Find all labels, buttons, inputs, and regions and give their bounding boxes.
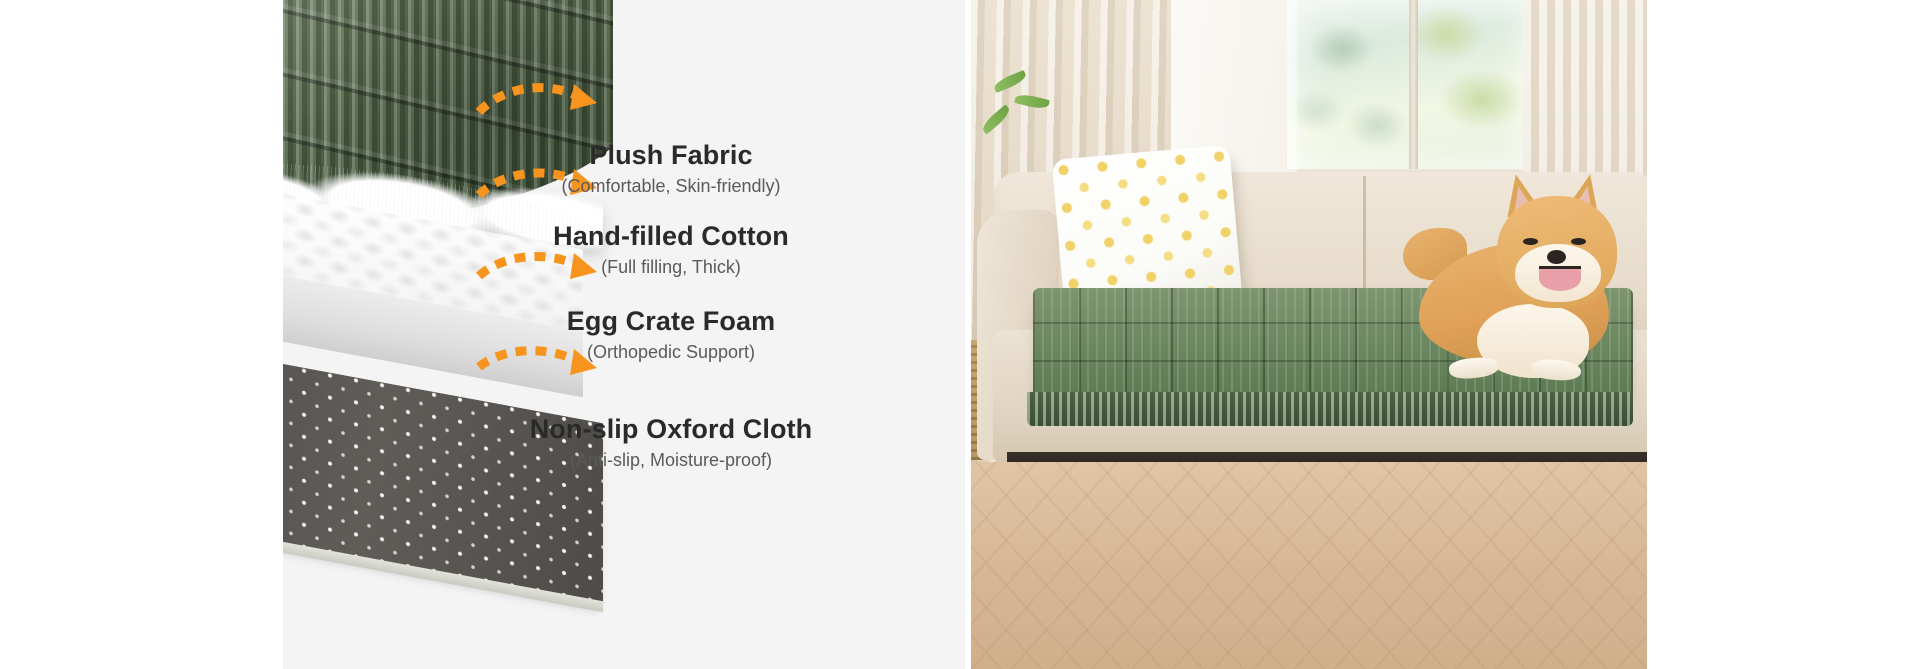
feature-subtitle: (Orthopedic Support) [471,341,871,364]
window-mullion [1409,0,1418,176]
shiba-inu-dog [1419,182,1637,398]
lifestyle-photo-panel [971,0,1647,669]
herringbone-wood-floor [971,462,1647,669]
window [1287,0,1537,176]
feature-label-plush-fabric: Plush Fabric (Comfortable, Skin-friendly… [471,140,871,198]
feature-title: Plush Fabric [471,140,871,172]
dog-eye-right [1571,238,1586,245]
plant-leaf [979,104,1012,134]
plant-leaf [992,70,1028,93]
feature-title: Non-slip Oxford Cloth [471,414,871,446]
feature-title: Egg Crate Foam [471,306,871,338]
dog-paw-left [1448,355,1500,380]
dog-eye-left [1523,238,1538,245]
dog-nose [1547,250,1566,264]
feature-label-egg-crate-foam: Egg Crate Foam (Orthopedic Support) [471,306,871,364]
feature-subtitle: (Full filling, Thick) [471,256,871,279]
feature-label-non-slip-oxford-cloth: Non-slip Oxford Cloth (Anti-slip, Moistu… [471,414,871,472]
dog-mouth [1539,266,1581,291]
plant-leaf [1014,92,1050,111]
feature-title: Hand-filled Cotton [471,221,871,253]
feature-label-hand-filled-cotton: Hand-filled Cotton (Full filling, Thick) [471,221,871,279]
infographic-canvas: Plush Fabric (Comfortable, Skin-friendly… [0,0,1920,669]
feature-subtitle: (Anti-slip, Moisture-proof) [471,449,871,472]
feature-subtitle: (Comfortable, Skin-friendly) [471,175,871,198]
material-layers-panel: Plush Fabric (Comfortable, Skin-friendly… [283,0,965,669]
